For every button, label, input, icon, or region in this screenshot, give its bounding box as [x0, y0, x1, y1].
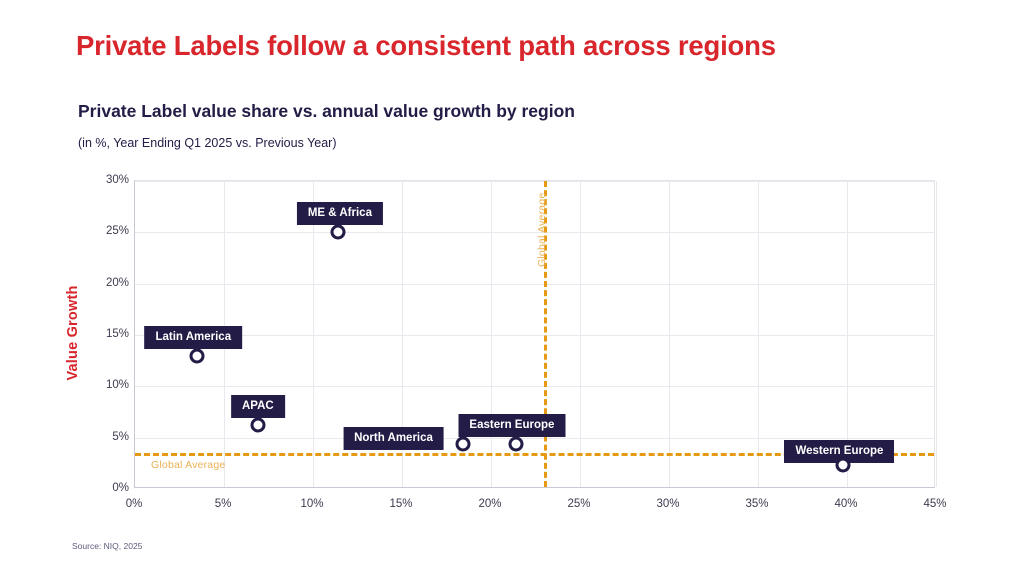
- gridline-horizontal: [135, 386, 934, 387]
- gridline-horizontal: [135, 284, 934, 285]
- y-axis-tick-label: 15%: [106, 328, 129, 340]
- plot-area: Global AverageGlobal Average Latin Ameri…: [134, 180, 935, 488]
- x-axis-tick-label: 40%: [834, 498, 857, 510]
- x-axis-tick-label: 25%: [567, 498, 590, 510]
- gridline-horizontal: [135, 335, 934, 336]
- y-axis-tick-label: 10%: [106, 379, 129, 391]
- gridline-vertical: [758, 181, 759, 487]
- y-axis-tick-label: 25%: [106, 225, 129, 237]
- data-point-label[interactable]: ME & Africa: [297, 202, 383, 225]
- y-axis-tick-label: 20%: [106, 277, 129, 289]
- gridline-vertical: [313, 181, 314, 487]
- gridline-vertical: [669, 181, 670, 487]
- data-point-label[interactable]: APAC: [231, 395, 285, 418]
- y-axis-tick-label: 30%: [106, 174, 129, 186]
- source-note: Source: NIQ, 2025: [72, 541, 142, 551]
- scatter-chart: Value Growth 0%5%10%15%20%25%30% 0%5%10%…: [0, 0, 1024, 576]
- y-axis-ticks: 0%5%10%15%20%25%30%: [96, 180, 129, 488]
- data-point-marker[interactable]: [455, 436, 470, 451]
- data-point-marker[interactable]: [836, 458, 851, 473]
- data-point-marker[interactable]: [250, 418, 265, 433]
- y-axis-tick-label: 0%: [112, 482, 129, 494]
- slide-canvas: Private Labels follow a consistent path …: [0, 0, 1024, 576]
- y-axis-tick-label: 5%: [112, 431, 129, 443]
- x-axis-tick-label: 5%: [215, 498, 232, 510]
- gridline-horizontal: [135, 232, 934, 233]
- x-axis-tick-label: 20%: [478, 498, 501, 510]
- data-point-label[interactable]: Eastern Europe: [458, 414, 565, 437]
- x-axis-tick-label: 35%: [745, 498, 768, 510]
- gridline-vertical: [580, 181, 581, 487]
- gridline-horizontal: [135, 181, 934, 182]
- x-axis-tick-label: 15%: [389, 498, 412, 510]
- x-axis-ticks: 0%5%10%15%20%25%30%35%40%45%: [134, 498, 935, 518]
- data-point-label[interactable]: North America: [343, 427, 444, 450]
- x-axis-tick-label: 45%: [923, 498, 946, 510]
- x-axis-tick-label: 10%: [300, 498, 323, 510]
- global-average-label-horizontal: Global Average: [151, 459, 225, 471]
- data-point-label[interactable]: Latin America: [144, 326, 242, 349]
- gridline-horizontal: [135, 438, 934, 439]
- gridline-vertical: [491, 181, 492, 487]
- data-point-marker[interactable]: [190, 348, 205, 363]
- x-axis-tick-label: 30%: [656, 498, 679, 510]
- x-axis-tick-label: 0%: [126, 498, 143, 510]
- gridline-vertical: [936, 181, 937, 487]
- y-axis-title-text: Value Growth: [65, 258, 81, 408]
- data-point-marker[interactable]: [508, 436, 523, 451]
- data-point-marker[interactable]: [330, 225, 345, 240]
- y-axis-title: Value Growth: [62, 258, 84, 408]
- global-average-label-vertical: Global Average: [536, 193, 548, 267]
